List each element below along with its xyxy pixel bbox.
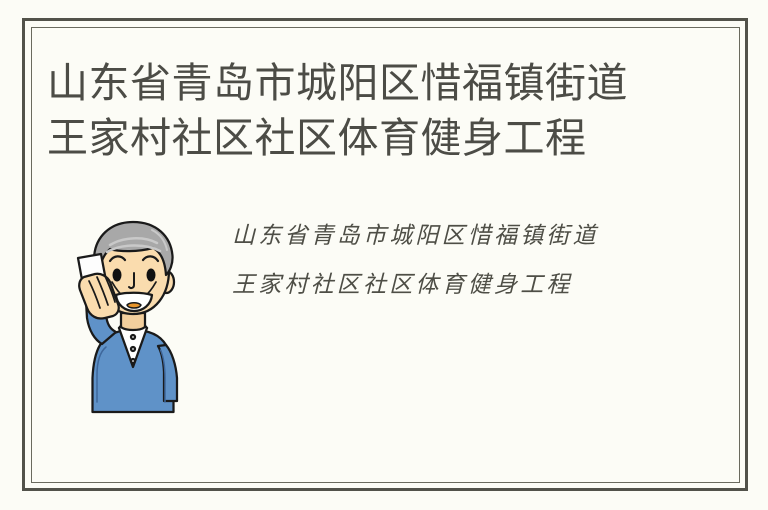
handwritten-caption: 山东省青岛市城阳区惜福镇街道 王家村社区社区体育健身工程 xyxy=(232,212,702,310)
page-title-line-1: 山东省青岛市城阳区惜福镇街道 xyxy=(47,56,707,111)
caption-line-1: 山东省青岛市城阳区惜福镇街道 xyxy=(232,212,702,261)
elderly-man-on-phone-icon xyxy=(58,202,208,427)
page-title-line-2: 王家村社区社区体育健身工程 xyxy=(47,111,707,166)
content-area: 山东省青岛市城阳区惜福镇街道 王家村社区社区体育健身工程 xyxy=(40,190,730,440)
caption-line-2: 王家村社区社区体育健身工程 xyxy=(232,261,702,310)
poster-card: 山东省青岛市城阳区惜福镇街道 王家村社区社区体育健身工程 xyxy=(0,0,768,510)
page-title: 山东省青岛市城阳区惜福镇街道 王家村社区社区体育健身工程 xyxy=(47,56,707,166)
